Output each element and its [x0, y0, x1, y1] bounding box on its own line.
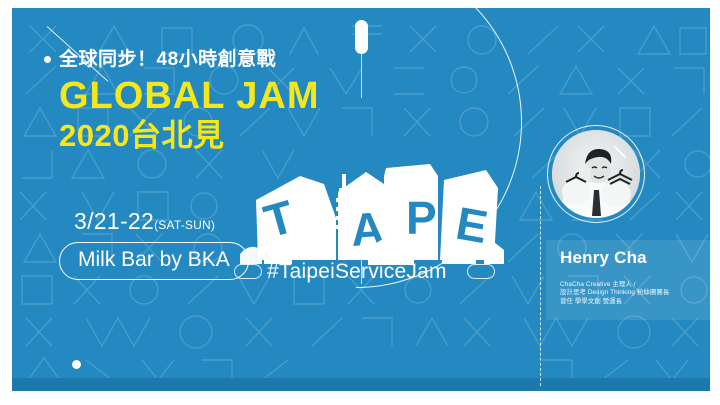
poster-canvas: 全球同步！48小時創意戰 GLOBAL JAM 2020台北見 3/21-22(…: [12, 8, 710, 391]
pill-decoration-left: [234, 264, 262, 279]
event-date: 3/21-22(SAT-SUN): [74, 208, 215, 235]
event-date-suffix: (SAT-SUN): [154, 218, 215, 232]
speaker-bio: ChaCha Creative 主理人 / 設計思考 Design Thinki…: [560, 281, 710, 306]
taipei-landmark-wordmark: T A P E: [240, 154, 510, 274]
accent-dot-top: [44, 56, 51, 63]
pill-decoration-right: [467, 264, 495, 279]
svg-text:P: P: [406, 192, 437, 244]
speaker-bio-line: 設計思考 Design Thinking 粉絲團團長: [560, 289, 710, 297]
event-date-main: 3/21-22: [74, 208, 154, 234]
bottom-band: [12, 378, 710, 391]
accent-dot-bottom: [72, 360, 81, 369]
capsule-shape-top: [355, 20, 368, 54]
avatar-photo: [552, 130, 640, 218]
capsule-connector-top: [361, 54, 362, 98]
dashed-divider: [540, 186, 541, 386]
event-venue: Milk Bar by BKA: [59, 242, 249, 280]
speaker-bio-line: 曾任 學學文創 營運長: [560, 298, 710, 306]
event-hashtag: #TaipeiServiceJam: [267, 260, 447, 284]
speaker-name: Henry Cha: [560, 248, 647, 268]
headline-title: GLOBAL JAM: [59, 77, 359, 117]
headline-kicker: 全球同步！48小時創意戰: [59, 50, 359, 71]
headline-block: 全球同步！48小時創意戰 GLOBAL JAM 2020台北見: [59, 50, 359, 153]
headline-subtitle: 2020台北見: [59, 119, 359, 153]
event-poster: 全球同步！48小時創意戰 GLOBAL JAM 2020台北見 3/21-22(…: [0, 0, 720, 405]
speaker-avatar: [552, 130, 640, 218]
